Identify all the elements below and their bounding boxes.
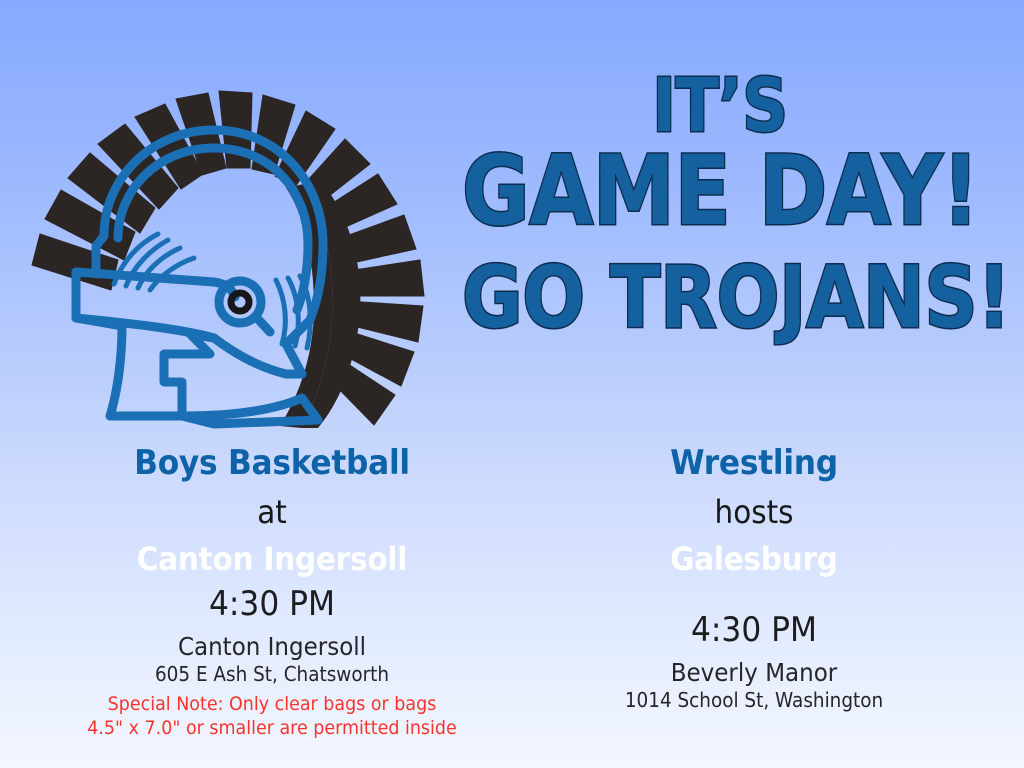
- event-column-boys-basketball: Boys Basketball at Canton Ingersoll 4:30…: [32, 446, 512, 741]
- event-sport: Wrestling: [570, 446, 938, 482]
- game-day-poster: IT’S GAME DAY! GO TROJANS! Boys Basketba…: [0, 0, 1024, 768]
- event-opponent: Galesburg: [570, 543, 938, 577]
- headline-line-2: GAME DAY!: [462, 146, 978, 236]
- event-venue: Beverly Manor: [570, 659, 938, 687]
- headline-line-1: IT’S: [462, 72, 978, 142]
- event-time: 4:30 PM: [570, 613, 938, 649]
- headline-line-3: GO TROJANS!: [462, 258, 978, 339]
- helmet-plume-icon: [32, 91, 424, 428]
- event-address: 605 E Ash St, Chatsworth: [51, 663, 493, 686]
- event-sport: Boys Basketball: [51, 446, 493, 482]
- event-relation: hosts: [570, 496, 938, 530]
- event-special-note: Special Note: Only clear bags or bags 4.…: [32, 692, 512, 741]
- event-column-wrestling: Wrestling hosts Galesburg 4:30 PM Beverl…: [554, 446, 954, 712]
- event-note-line-1: Special Note: Only clear bags or bags: [51, 692, 493, 716]
- event-venue: Canton Ingersoll: [51, 633, 493, 661]
- event-relation: at: [51, 496, 493, 530]
- headline: IT’S GAME DAY! GO TROJANS!: [420, 72, 1020, 339]
- event-address: 1014 School St, Washington: [570, 689, 938, 712]
- helmet-rivet-icon: [219, 281, 270, 332]
- event-opponent: Canton Ingersoll: [51, 543, 493, 577]
- event-note-line-2: 4.5" x 7.0" or smaller are permitted ins…: [51, 716, 493, 740]
- event-time: 4:30 PM: [51, 587, 493, 623]
- trojan-helmet-logo: [18, 38, 428, 433]
